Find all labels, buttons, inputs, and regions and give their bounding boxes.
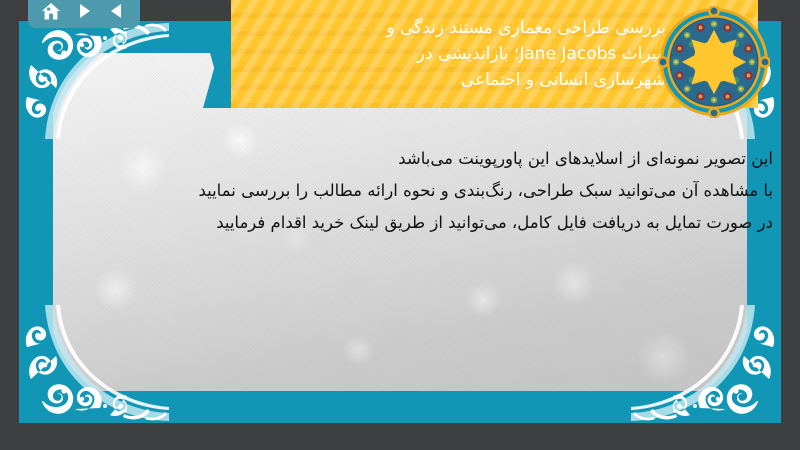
previous-slide-button[interactable] xyxy=(104,0,130,23)
body-line-3: در صورت تمایل به دریافت فایل کامل، می‌تو… xyxy=(29,207,773,239)
slide-body-text: این تصویر نمونه‌ای از اسلایدهای این پاور… xyxy=(19,143,773,240)
home-button[interactable] xyxy=(38,0,64,23)
presentation-viewer: این تصویر نمونه‌ای از اسلایدهای این پاور… xyxy=(0,0,800,450)
body-line-2: با مشاهده آن می‌توانید سبک طراحی، رنگ‌بن… xyxy=(29,175,773,207)
next-slide-button[interactable] xyxy=(71,0,97,23)
slide-navigation-bar xyxy=(28,0,140,28)
persian-medallion-icon xyxy=(658,6,770,118)
body-line-1: این تصویر نمونه‌ای از اسلایدهای این پاور… xyxy=(29,143,773,175)
